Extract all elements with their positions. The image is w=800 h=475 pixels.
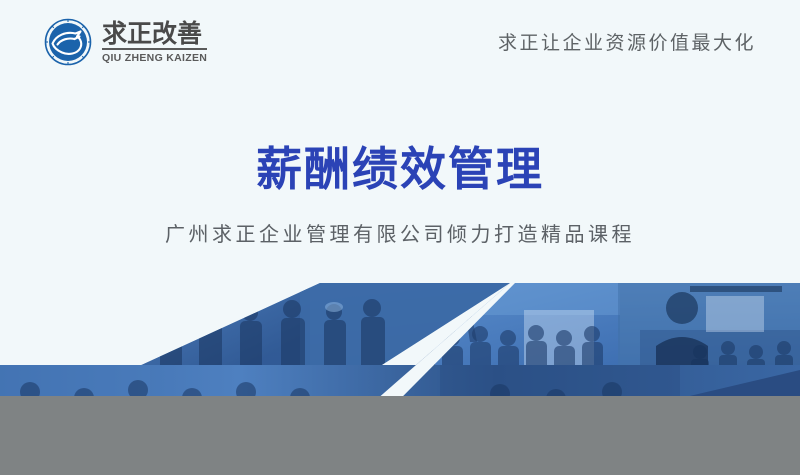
page-title: 薪酬绩效管理 — [0, 140, 800, 198]
qiuzheng-circular-emblem-icon — [44, 18, 92, 66]
slide-header: 求正改善 QIU ZHENG KAIZEN 求正让企业资源价值最大化 — [0, 0, 800, 88]
slide-root: 求正改善 QIU ZHENG KAIZEN 求正让企业资源价值最大化 薪酬绩效管… — [0, 0, 800, 475]
bottom-gray-band — [0, 396, 800, 475]
page-subtitle: 广州求正企业管理有限公司倾力打造精品课程 — [0, 220, 800, 248]
brand-logo: 求正改善 QIU ZHENG KAIZEN — [44, 17, 207, 67]
brand-name-cn: 求正改善 — [102, 20, 207, 50]
brand-name-en: QIU ZHENG KAIZEN — [102, 52, 207, 65]
header-tagline: 求正让企业资源价值最大化 — [498, 30, 756, 56]
brand-wordmark: 求正改善 QIU ZHENG KAIZEN — [102, 20, 207, 65]
title-block: 薪酬绩效管理 广州求正企业管理有限公司倾力打造精品课程 — [0, 140, 800, 248]
